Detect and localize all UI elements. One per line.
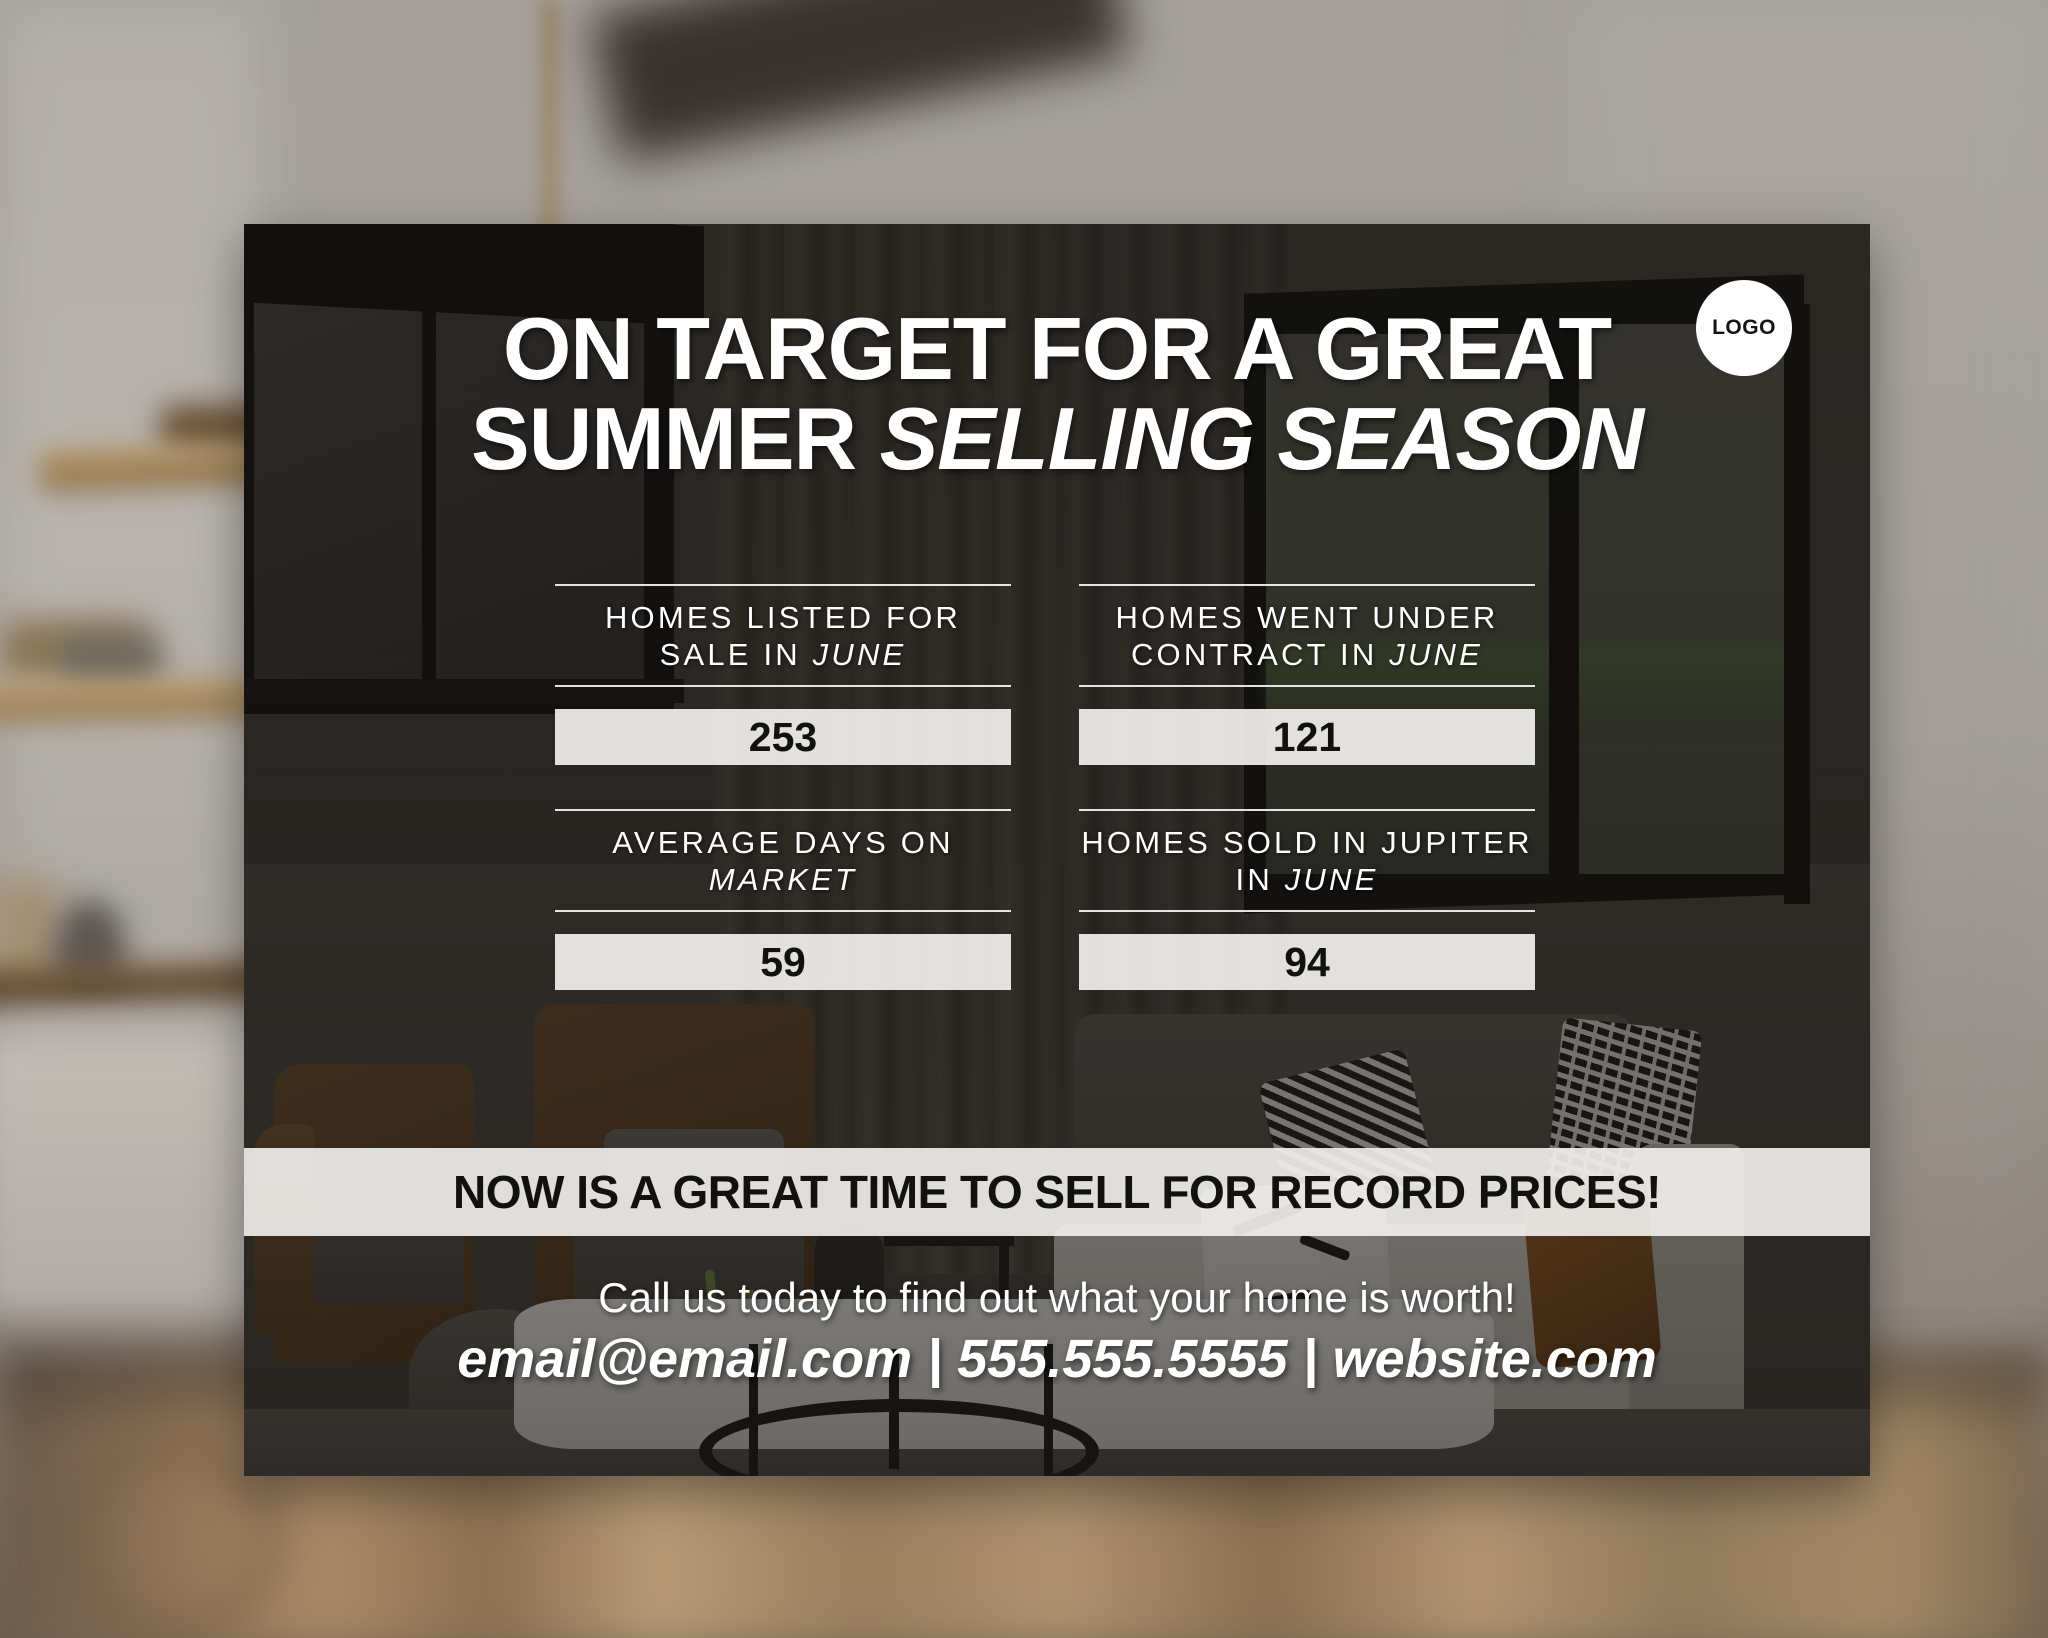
flyer-card: LOGO ON TARGET FOR A GREAT SUMMER SELLIN… bbox=[244, 224, 1870, 1476]
stat-label-plain: AVERAGE DAYS ON bbox=[612, 825, 953, 860]
footer-tagline: Call us today to find out what your home… bbox=[244, 1274, 1870, 1322]
stat-label-italic: JUNE bbox=[813, 637, 907, 672]
footer-contact: Call us today to find out what your home… bbox=[244, 1274, 1870, 1390]
backdrop-cabinet bbox=[0, 1035, 280, 1315]
stat-label-italic: JUNE bbox=[1389, 637, 1483, 672]
stat-label: AVERAGE DAYS ON MARKET bbox=[555, 809, 1011, 912]
stat-average-days-on-market: AVERAGE DAYS ON MARKET 59 bbox=[555, 809, 1011, 990]
footer-contact-line: email@email.com | 555.555.5555 | website… bbox=[244, 1328, 1870, 1390]
backdrop-wood-shelf-middle bbox=[0, 677, 270, 722]
stat-label-plain: HOMES LISTED FOR SALE IN bbox=[605, 600, 961, 672]
stats-grid: HOMES LISTED FOR SALE IN JUNE 253 HOMES … bbox=[555, 584, 1555, 990]
stat-value: 253 bbox=[555, 709, 1011, 765]
stat-homes-sold-in-jupiter: HOMES SOLD IN JUPITER IN JUNE 94 bbox=[1079, 809, 1535, 990]
footer-website[interactable]: website.com bbox=[1333, 1329, 1657, 1389]
stats-row-2: AVERAGE DAYS ON MARKET 59 HOMES SOLD IN … bbox=[555, 809, 1555, 990]
stat-label-italic: JUNE bbox=[1285, 862, 1379, 897]
footer-phone[interactable]: 555.555.5555 bbox=[957, 1329, 1287, 1389]
stat-label: HOMES WENT UNDER CONTRACT IN JUNE bbox=[1079, 584, 1535, 687]
flyer-content: LOGO ON TARGET FOR A GREAT SUMMER SELLIN… bbox=[244, 224, 1870, 1476]
stat-value: 59 bbox=[555, 934, 1011, 990]
backdrop-shelf-object bbox=[60, 638, 160, 684]
stat-homes-under-contract: HOMES WENT UNDER CONTRACT IN JUNE 121 bbox=[1079, 584, 1535, 765]
stats-row-1: HOMES LISTED FOR SALE IN JUNE 253 HOMES … bbox=[555, 584, 1555, 765]
footer-email[interactable]: email@email.com bbox=[457, 1329, 912, 1389]
footer-separator: | bbox=[1288, 1329, 1333, 1389]
stat-label-italic: MARKET bbox=[709, 862, 857, 897]
call-to-action-banner: NOW IS A GREAT TIME TO SELL FOR RECORD P… bbox=[244, 1148, 1870, 1236]
stat-label: HOMES LISTED FOR SALE IN JUNE bbox=[555, 584, 1011, 687]
page-title: ON TARGET FOR A GREAT SUMMER SELLING SEA… bbox=[244, 304, 1870, 484]
stat-value: 121 bbox=[1079, 709, 1535, 765]
headline-line-2-plain: SUMMER bbox=[471, 389, 880, 488]
stat-homes-listed-for-sale: HOMES LISTED FOR SALE IN JUNE 253 bbox=[555, 584, 1011, 765]
banner-text: NOW IS A GREAT TIME TO SELL FOR RECORD P… bbox=[453, 1165, 1661, 1219]
stat-value: 94 bbox=[1079, 934, 1535, 990]
headline-line-1: ON TARGET FOR A GREAT bbox=[503, 299, 1611, 398]
headline-line-2-italic: SELLING SEASON bbox=[880, 389, 1643, 488]
footer-separator: | bbox=[912, 1329, 957, 1389]
stat-label: HOMES SOLD IN JUPITER IN JUNE bbox=[1079, 809, 1535, 912]
